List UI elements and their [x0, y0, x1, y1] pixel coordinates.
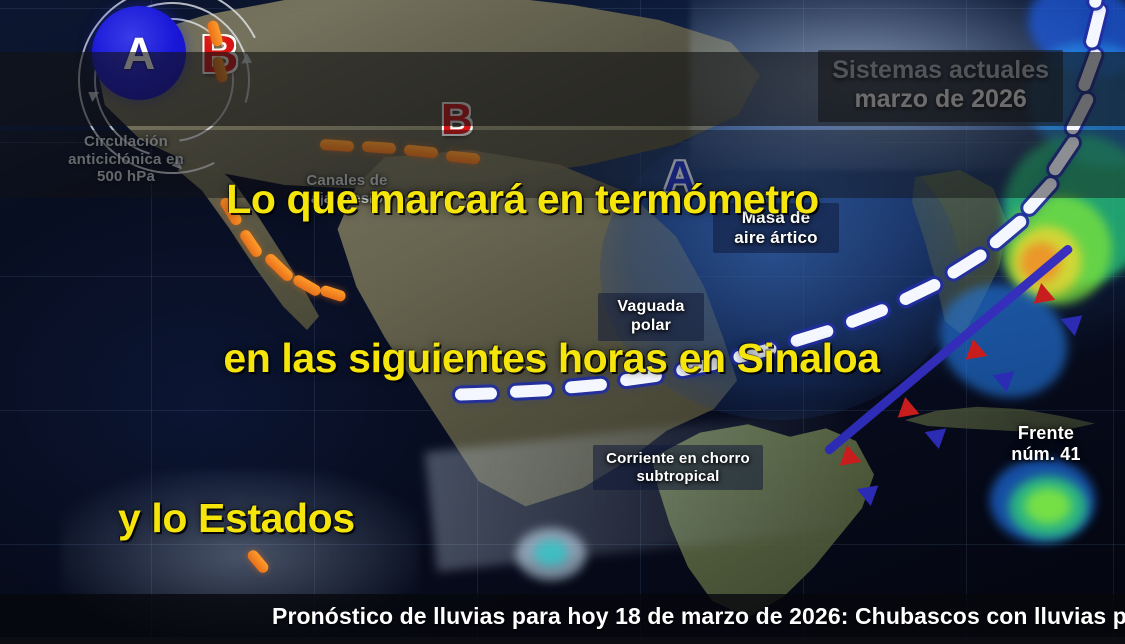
bottom-letterbox [0, 637, 1125, 644]
subtitle-caption: Lo que marcará en termómetro en las sigu… [0, 66, 1125, 644]
ticker-text: Pronóstico de lluvias para hoy 18 de mar… [0, 603, 1125, 630]
caption-line-2: en las siguientes horas en Sinaloa [0, 332, 1125, 385]
weather-broadcast-frame: A B B A [0, 0, 1125, 644]
caption-line-1: Lo que marcará en termómetro [0, 173, 1125, 226]
bottom-ticker-bar: Pronóstico de lluvias para hoy 18 de mar… [0, 594, 1125, 638]
caption-line-3: y lo Estados [0, 492, 1125, 545]
